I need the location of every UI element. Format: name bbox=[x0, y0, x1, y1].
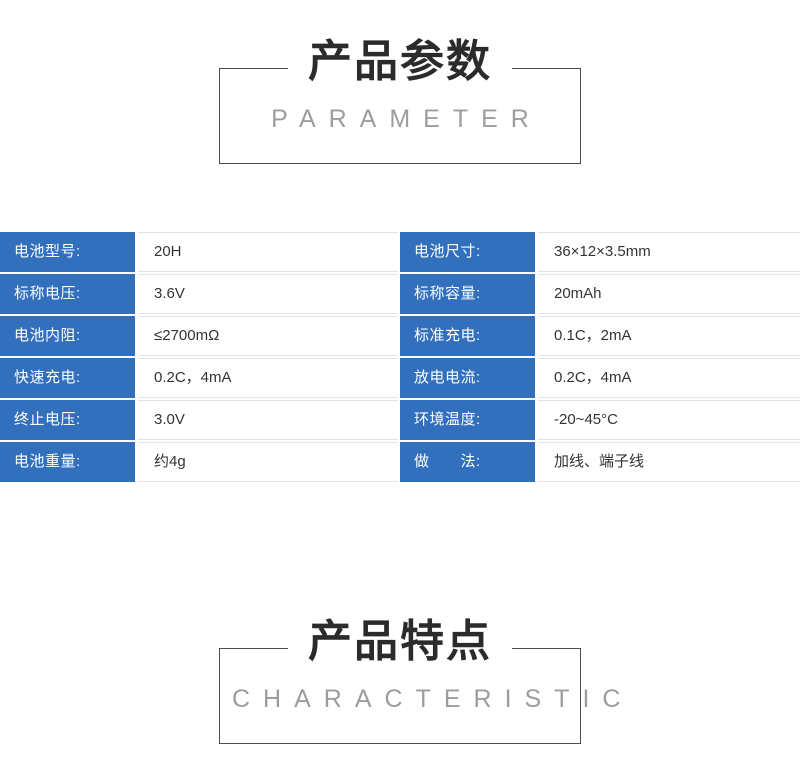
spec-label: 电池内阻: bbox=[0, 316, 135, 358]
spec-pair-left: 电池型号: 20H bbox=[0, 232, 400, 274]
heading-subtitle-en: CHARACTERISTIC bbox=[219, 684, 581, 714]
spec-pair-left: 电池重量: 约4g bbox=[0, 442, 400, 484]
spec-value: 0.1C，2mA bbox=[538, 316, 800, 356]
spec-value: 加线、端子线 bbox=[538, 442, 800, 482]
table-row: 电池型号: 20H 电池尺寸: 36×12×3.5mm bbox=[0, 232, 800, 274]
heading-title-cn: 产品参数 bbox=[219, 36, 581, 88]
table-row: 电池重量: 约4g 做 法: 加线、端子线 bbox=[0, 442, 800, 484]
spec-label: 环境温度: bbox=[400, 400, 535, 442]
spec-label: 电池型号: bbox=[0, 232, 135, 274]
spec-table: 电池型号: 20H 电池尺寸: 36×12×3.5mm 标称电压: 3.6V 标… bbox=[0, 232, 800, 484]
table-row: 标称电压: 3.6V 标称容量: 20mAh bbox=[0, 274, 800, 316]
spec-pair-right: 标称容量: 20mAh bbox=[400, 274, 800, 316]
spec-label: 标准充电: bbox=[400, 316, 535, 358]
section-heading-parameter: 产品参数 PARAMETER bbox=[219, 68, 581, 164]
spec-pair-right: 做 法: 加线、端子线 bbox=[400, 442, 800, 484]
spec-pair-left: 标称电压: 3.6V bbox=[0, 274, 400, 316]
spec-value: 3.0V bbox=[138, 400, 398, 440]
spec-label: 终止电压: bbox=[0, 400, 135, 442]
spec-value: 20H bbox=[138, 232, 398, 272]
spec-label: 快速充电: bbox=[0, 358, 135, 400]
spec-pair-left: 快速充电: 0.2C，4mA bbox=[0, 358, 400, 400]
spec-value: ≤2700mΩ bbox=[138, 316, 398, 356]
spec-value: 20mAh bbox=[538, 274, 800, 314]
spec-label: 标称容量: bbox=[400, 274, 535, 316]
spec-label: 标称电压: bbox=[0, 274, 135, 316]
spec-value: 0.2C，4mA bbox=[138, 358, 398, 398]
heading-subtitle-en: PARAMETER bbox=[219, 104, 581, 134]
spec-pair-left: 电池内阻: ≤2700mΩ bbox=[0, 316, 400, 358]
spec-value: 36×12×3.5mm bbox=[538, 232, 800, 272]
table-row: 终止电压: 3.0V 环境温度: -20~45°C bbox=[0, 400, 800, 442]
heading-title-cn: 产品特点 bbox=[219, 616, 581, 668]
spec-label: 放电电流: bbox=[400, 358, 535, 400]
spec-value: 约4g bbox=[138, 442, 398, 482]
table-row: 电池内阻: ≤2700mΩ 标准充电: 0.1C，2mA bbox=[0, 316, 800, 358]
spec-pair-right: 环境温度: -20~45°C bbox=[400, 400, 800, 442]
spec-value: 3.6V bbox=[138, 274, 398, 314]
spec-pair-left: 终止电压: 3.0V bbox=[0, 400, 400, 442]
section-heading-characteristic: 产品特点 CHARACTERISTIC bbox=[219, 648, 581, 744]
spec-value: 0.2C，4mA bbox=[538, 358, 800, 398]
spec-value: -20~45°C bbox=[538, 400, 800, 440]
spec-label: 做 法: bbox=[400, 442, 535, 484]
table-row: 快速充电: 0.2C，4mA 放电电流: 0.2C，4mA bbox=[0, 358, 800, 400]
spec-label: 电池尺寸: bbox=[400, 232, 535, 274]
spec-pair-right: 电池尺寸: 36×12×3.5mm bbox=[400, 232, 800, 274]
spec-pair-right: 放电电流: 0.2C，4mA bbox=[400, 358, 800, 400]
spec-pair-right: 标准充电: 0.1C，2mA bbox=[400, 316, 800, 358]
spec-label: 电池重量: bbox=[0, 442, 135, 484]
